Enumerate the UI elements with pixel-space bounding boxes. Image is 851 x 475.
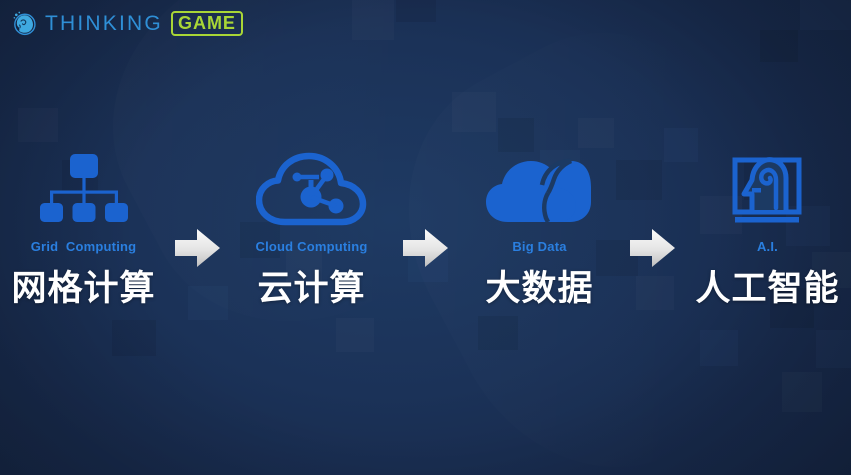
step-cn-label: 大数据 bbox=[485, 271, 593, 306]
pipeline-step-cloud-computing[interactable]: Cloud Computing 云计算 bbox=[228, 150, 395, 306]
step-en-label: A.I. bbox=[757, 240, 778, 253]
pipeline-arrow-3 bbox=[623, 150, 684, 268]
arrow-right-icon bbox=[175, 228, 221, 268]
step-cn-label: 人工智能 bbox=[695, 271, 839, 306]
brand-wordmark: THINKING bbox=[45, 13, 163, 34]
cloud-computing-icon bbox=[256, 150, 368, 228]
arrow-right-icon bbox=[630, 228, 676, 268]
thinking-head-icon bbox=[10, 9, 38, 37]
step-en-label: Cloud Computing bbox=[256, 240, 368, 253]
step-cn-label: 网格计算 bbox=[12, 271, 156, 306]
technology-evolution-pipeline: Grid Computing 网格计算 bbox=[0, 150, 851, 310]
slide-canvas: THINKING GAME Grid Computing 网格 bbox=[0, 0, 851, 475]
pipeline-arrow-2 bbox=[395, 150, 456, 268]
arrow-right-icon bbox=[403, 228, 449, 268]
pipeline-step-big-data[interactable]: Big Data 大数据 bbox=[456, 150, 623, 306]
step-en-label: Big Data bbox=[512, 240, 566, 253]
pipeline-arrow-1 bbox=[167, 150, 228, 268]
ai-icon bbox=[730, 150, 804, 228]
pipeline-step-grid-computing[interactable]: Grid Computing 网格计算 bbox=[0, 150, 167, 306]
pipeline-step-ai[interactable]: A.I. 人工智能 bbox=[684, 150, 851, 306]
brand-badge: GAME bbox=[171, 11, 243, 36]
brand-logo[interactable]: THINKING GAME bbox=[10, 8, 243, 38]
step-en-label: Grid Computing bbox=[31, 240, 137, 253]
big-data-icon bbox=[486, 150, 594, 228]
step-cn-label: 云计算 bbox=[258, 271, 366, 306]
grid-computing-icon bbox=[36, 150, 132, 228]
